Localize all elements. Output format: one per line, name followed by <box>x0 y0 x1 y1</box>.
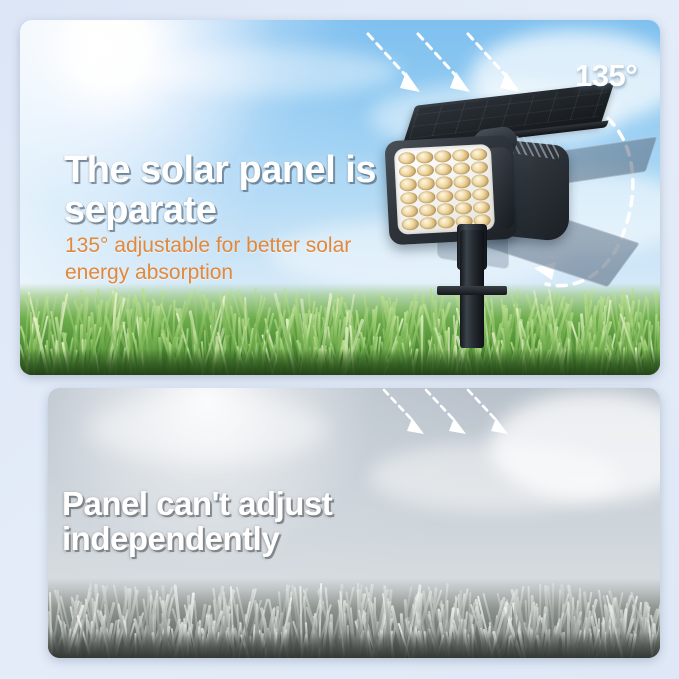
solar-spotlight-adjustable <box>375 72 660 352</box>
page-title-bottom: Panel can't adjust independently <box>62 487 372 557</box>
grass-ground-shadow <box>20 349 660 375</box>
led-dot <box>470 148 488 161</box>
led-dot <box>453 162 471 175</box>
led-dot <box>471 161 489 174</box>
led-dot <box>435 176 453 189</box>
subtitle-top: 135° adjustable for better solar energy … <box>65 232 375 287</box>
led-dot <box>472 188 490 201</box>
page-title-top: The solar panel is separate <box>64 150 394 231</box>
led-array <box>394 144 495 235</box>
led-dot <box>454 188 472 201</box>
led-dot <box>401 204 419 217</box>
stake-flange <box>437 286 507 295</box>
lamp-head <box>384 135 517 246</box>
grass-band-gray <box>48 578 660 658</box>
led-dot <box>436 189 454 202</box>
led-dot <box>417 164 435 177</box>
cloud-shape <box>88 394 328 464</box>
led-dot <box>400 191 418 204</box>
grass-ground-shadow <box>48 632 660 658</box>
led-dot <box>398 152 416 165</box>
led-dot <box>437 203 455 216</box>
led-dot <box>453 175 471 188</box>
cloud-shape <box>140 48 400 96</box>
infographic-stage: The solar panel is separate 135° adjusta… <box>0 0 679 679</box>
cloud-shape <box>370 442 620 512</box>
led-dot <box>435 163 453 176</box>
led-dot <box>401 218 419 231</box>
led-dot <box>417 177 435 190</box>
led-dot <box>419 203 437 216</box>
led-dot <box>399 165 417 178</box>
angle-badge: 135° <box>575 58 637 94</box>
led-dot <box>419 217 437 230</box>
led-dot <box>418 190 436 203</box>
led-dot <box>473 201 491 214</box>
led-dot <box>416 151 434 164</box>
led-dot <box>437 216 455 229</box>
led-dot <box>399 178 417 191</box>
led-dot <box>455 202 473 215</box>
panel-solar-panel-separate: The solar panel is separate 135° adjusta… <box>20 20 660 375</box>
led-dot <box>471 174 489 187</box>
led-dot <box>434 150 452 163</box>
led-dot <box>452 149 470 162</box>
